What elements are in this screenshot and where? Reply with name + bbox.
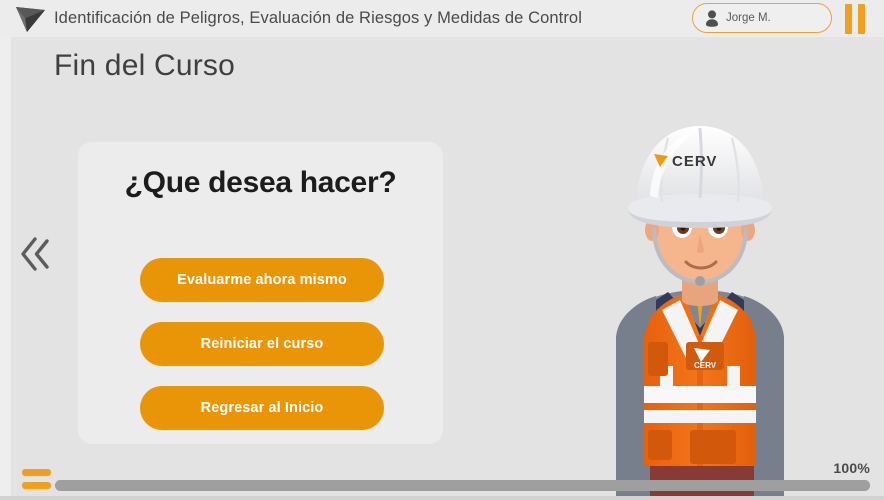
svg-text:CERV: CERV [694, 361, 717, 370]
course-title: Identificación de Peligros, Evaluación d… [54, 0, 582, 37]
evaluate-now-button[interactable]: Evaluarme ahora mismo [140, 258, 384, 302]
progress-bar[interactable] [55, 480, 870, 491]
end-of-course-card: ¿Que desea hacer? Evaluarme ahora mismo … [78, 142, 443, 444]
page-title: Fin del Curso [54, 49, 235, 83]
restart-course-button[interactable]: Reiniciar el curso [140, 322, 384, 366]
user-avatar-icon [705, 10, 719, 27]
card-question-text: ¿Que desea hacer? [78, 166, 443, 200]
user-name-label: Jorge M. [726, 12, 771, 24]
course-player-stage: Identificación de Peligros, Evaluación d… [0, 0, 884, 500]
left-edge-strip [0, 0, 11, 500]
return-home-button[interactable]: Regresar al Inicio [140, 386, 384, 430]
worker-character-illustration: CERV [584, 104, 816, 500]
svg-text:CERV: CERV [672, 153, 717, 170]
menu-bars-icon[interactable] [22, 466, 52, 492]
menu-bar-top [22, 469, 51, 476]
user-badge[interactable]: Jorge M. [692, 3, 832, 33]
progress-bar-fill [55, 480, 870, 491]
double-chevron-left-icon[interactable] [14, 228, 56, 280]
pause-icon[interactable] [843, 4, 867, 34]
action-button-group: Evaluarme ahora mismo Reiniciar el curso… [140, 258, 384, 430]
progress-percent-label: 100% [833, 460, 870, 476]
pause-bar-right [858, 4, 865, 34]
pause-bar-left [845, 4, 852, 34]
top-header-bar: Identificación de Peligros, Evaluación d… [0, 0, 884, 37]
cerv-triangle-logo-icon [14, 4, 47, 34]
menu-bar-bottom [22, 482, 51, 489]
